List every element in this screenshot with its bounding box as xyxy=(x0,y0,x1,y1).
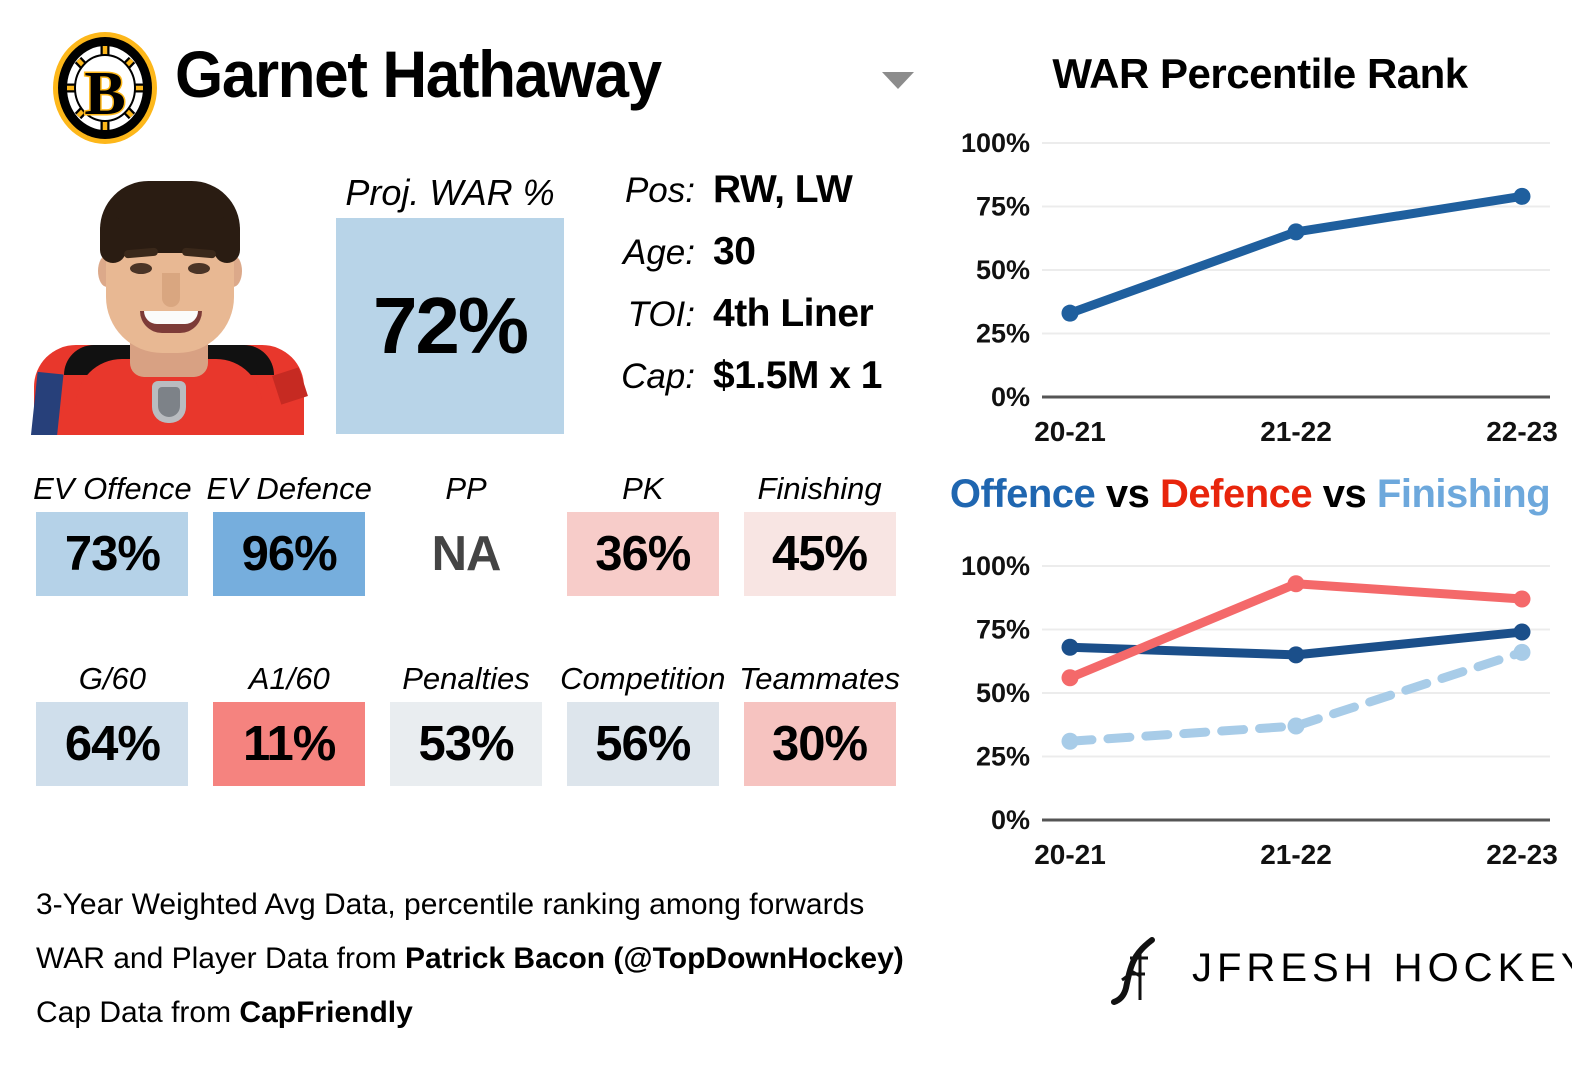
chart-title-war-percentile: WAR Percentile Rank xyxy=(950,50,1570,98)
stat-box: 73% xyxy=(36,512,188,596)
stat-value: NA xyxy=(432,526,501,582)
series-point-offence xyxy=(1288,646,1305,663)
x-axis-tick-label: 22-23 xyxy=(1486,416,1558,447)
y-axis-tick-label: 25% xyxy=(976,319,1030,349)
y-axis-tick-label: 75% xyxy=(976,615,1030,645)
stat-label: Penalties xyxy=(378,658,555,702)
stat-box: 96% xyxy=(213,512,365,596)
x-axis-tick-label: 21-22 xyxy=(1260,839,1332,870)
stat-label: Finishing xyxy=(731,468,908,512)
info-value: 30 xyxy=(695,230,755,274)
stat-cell-ev-offence: EV Offence73% xyxy=(24,468,201,596)
proj-war-box: 72% xyxy=(336,218,564,434)
info-row-pos: Pos: RW, LW xyxy=(585,168,905,230)
y-axis-tick-label: 0% xyxy=(991,805,1030,835)
stat-box: NA xyxy=(390,512,542,596)
player-info-list: Pos: RW, LW Age: 30 TOI: 4th Liner Cap: … xyxy=(585,168,905,416)
stat-label: G/60 xyxy=(24,658,201,702)
series-point-war percentile xyxy=(1062,305,1079,322)
info-key: TOI: xyxy=(585,295,695,335)
stat-label: PP xyxy=(378,468,555,512)
stat-cell-pk: PK36% xyxy=(554,468,731,596)
stat-value: 45% xyxy=(772,526,867,582)
player-headshot xyxy=(24,163,314,435)
chart-war-percentile-rank: 0%25%50%75%100%20-2121-2222-23 xyxy=(950,125,1570,455)
footnote-war-source-credit: Patrick Bacon (@TopDownHockey) xyxy=(405,942,904,975)
page-title: Garnet Hathaway xyxy=(175,36,661,112)
stat-cell-pp: PPNA xyxy=(378,468,555,596)
stat-cell-finishing: Finishing45% xyxy=(731,468,908,596)
stat-value: 64% xyxy=(65,716,160,772)
chart-offence-defence-finishing: 0%25%50%75%100%20-2121-2222-23 xyxy=(950,548,1570,878)
chart2-title-part: vs xyxy=(1323,472,1367,516)
series-point-offence xyxy=(1062,639,1079,656)
stat-row: G/6064%A1/6011%Penalties53%Competition56… xyxy=(24,658,908,786)
info-key: Cap: xyxy=(585,357,695,397)
info-row-age: Age: 30 xyxy=(585,230,905,292)
stat-label: EV Defence xyxy=(201,468,378,512)
footnote-data-description: 3-Year Weighted Avg Data, percentile ran… xyxy=(36,878,936,932)
info-value: $1.5M x 1 xyxy=(695,354,882,398)
series-point-defence xyxy=(1514,591,1531,608)
proj-war-value: 72% xyxy=(373,280,527,372)
stat-box: 36% xyxy=(567,512,719,596)
stat-cell-a1-60: A1/6011% xyxy=(201,658,378,786)
stat-value: 96% xyxy=(242,526,337,582)
y-axis-tick-label: 100% xyxy=(961,128,1030,158)
jfresh-monogram-icon xyxy=(1100,930,1180,1010)
y-axis-tick-label: 50% xyxy=(976,255,1030,285)
stat-label: PK xyxy=(554,468,731,512)
y-axis-tick-label: 25% xyxy=(976,742,1030,772)
series-point-finishing xyxy=(1288,718,1305,735)
series-point-defence xyxy=(1062,669,1079,686)
chart2-title-part: Defence xyxy=(1160,472,1312,516)
x-axis-tick-label: 22-23 xyxy=(1486,839,1558,870)
info-row-cap: Cap: $1.5M x 1 xyxy=(585,354,905,416)
stat-label: EV Offence xyxy=(24,468,201,512)
chart2-title-part: vs xyxy=(1106,472,1150,516)
y-axis-tick-label: 100% xyxy=(961,551,1030,581)
y-axis-tick-label: 75% xyxy=(976,192,1030,222)
stat-value: 73% xyxy=(65,526,160,582)
stat-value: 30% xyxy=(772,716,867,772)
card-header: B Garnet Hathaway xyxy=(0,0,940,150)
stat-box: 64% xyxy=(36,702,188,786)
info-value: RW, LW xyxy=(695,168,852,212)
series-line-war percentile xyxy=(1070,196,1522,313)
stat-cell-teammates: Teammates30% xyxy=(731,658,908,786)
stat-label: Teammates xyxy=(731,658,908,702)
series-point-offence xyxy=(1514,624,1531,641)
footer-notes: 3-Year Weighted Avg Data, percentile ran… xyxy=(36,878,936,1040)
stat-cell-penalties: Penalties53% xyxy=(378,658,555,786)
series-line-defence xyxy=(1070,584,1522,678)
info-key: Pos: xyxy=(585,171,695,211)
svg-text:B: B xyxy=(84,60,125,128)
series-point-war percentile xyxy=(1288,223,1305,240)
stat-label: A1/60 xyxy=(201,658,378,702)
stat-row: EV Offence73%EV Defence96%PPNAPK36%Finis… xyxy=(24,468,908,596)
info-row-toi: TOI: 4th Liner xyxy=(585,292,905,354)
footnote-war-source: WAR and Player Data from Patrick Bacon (… xyxy=(36,932,936,986)
x-axis-tick-label: 20-21 xyxy=(1034,416,1106,447)
chevron-down-icon[interactable] xyxy=(882,72,914,89)
stat-box: 11% xyxy=(213,702,365,786)
series-point-war percentile xyxy=(1514,188,1531,205)
stat-box: 53% xyxy=(390,702,542,786)
series-point-defence xyxy=(1288,575,1305,592)
x-axis-tick-label: 21-22 xyxy=(1260,416,1332,447)
chart2-title-part: Finishing xyxy=(1377,472,1550,516)
series-point-finishing xyxy=(1062,733,1079,750)
stat-box: 30% xyxy=(744,702,896,786)
stat-value: 11% xyxy=(243,716,335,772)
team-logo-bruins-icon: B xyxy=(47,30,163,146)
x-axis-tick-label: 20-21 xyxy=(1034,839,1106,870)
stat-grid: EV Offence73%EV Defence96%PPNAPK36%Finis… xyxy=(24,468,908,786)
brand-logo-text: JFRESH HOCKEY xyxy=(1192,946,1572,991)
footnote-cap-source: Cap Data from CapFriendly xyxy=(36,986,936,1040)
stat-cell-competition: Competition56% xyxy=(554,658,731,786)
stat-box: 45% xyxy=(744,512,896,596)
stat-cell-ev-defence: EV Defence96% xyxy=(201,468,378,596)
info-value: 4th Liner xyxy=(695,292,873,336)
stat-box: 56% xyxy=(567,702,719,786)
brand-logo: JFRESH HOCKEY xyxy=(1100,930,1540,1010)
footnote-war-source-prefix: WAR and Player Data from xyxy=(36,942,405,975)
chart-title-offence-defence-finishing: Offence vs Defence vs Finishing xyxy=(930,472,1570,517)
footnote-cap-source-credit: CapFriendly xyxy=(239,996,412,1029)
stat-value: 56% xyxy=(595,716,690,772)
y-axis-tick-label: 0% xyxy=(991,382,1030,412)
stat-label: Competition xyxy=(554,658,731,702)
chart2-title-part: Offence xyxy=(950,472,1095,516)
info-key: Age: xyxy=(585,233,695,273)
proj-war-label: Proj. WAR % xyxy=(335,172,565,214)
stat-value: 36% xyxy=(595,526,690,582)
stat-cell-g-60: G/6064% xyxy=(24,658,201,786)
footnote-cap-source-prefix: Cap Data from xyxy=(36,996,239,1029)
y-axis-tick-label: 50% xyxy=(976,678,1030,708)
stat-value: 53% xyxy=(418,716,513,772)
series-point-finishing xyxy=(1514,644,1531,661)
